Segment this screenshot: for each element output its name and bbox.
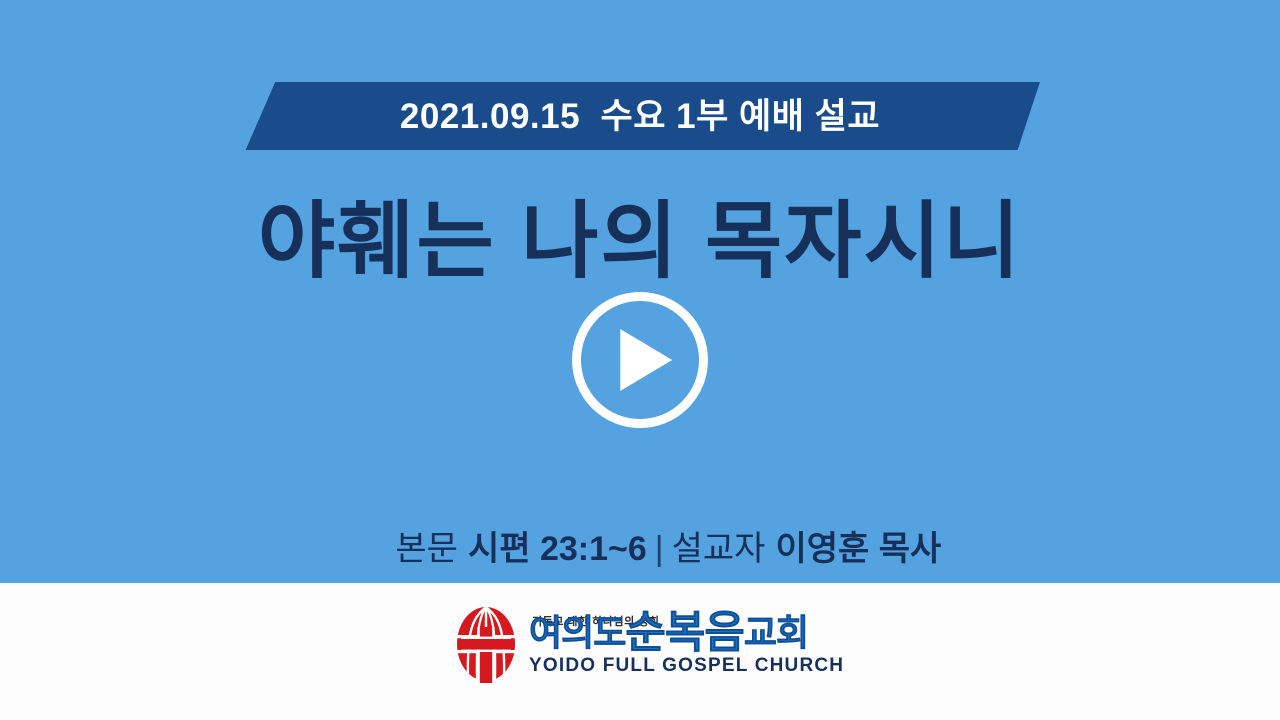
church-name-korean-part3: 교회 [744, 612, 808, 653]
church-name-english: YOIDO FULL GOSPEL CHURCH [529, 656, 844, 675]
church-name-korean: 여의도순복음교회 [529, 613, 844, 653]
meta-separator: | [647, 530, 672, 568]
scripture-label: 본문 [395, 530, 458, 568]
play-icon [620, 329, 672, 391]
play-button[interactable] [572, 292, 708, 428]
date-banner-text: 2021.09.15 수요 1부 예배 설교 [400, 99, 880, 134]
church-logo: 기독교 대한 하나님의 성회 여의도순복음교회 YOIDO FULL GOSPE… [455, 605, 844, 683]
preacher-label: 설교자 [672, 530, 766, 568]
sermon-meta-line: 본문시편 23:1~6|설교자이영훈 목사 [0, 485, 1280, 583]
footer-bar: 기독교 대한 하나님의 성회 여의도순복음교회 YOIDO FULL GOSPE… [0, 583, 1280, 720]
preacher-value: 이영훈 목사 [775, 530, 941, 568]
video-thumbnail[interactable]: 2021.09.15 수요 1부 예배 설교 야훼는 나의 목자시니 본문시편 … [0, 0, 1280, 720]
church-globe-cross-emblem [455, 605, 517, 683]
date-banner: 2021.09.15 수요 1부 예배 설교 [240, 82, 1040, 150]
scripture-value: 시편 23:1~6 [468, 530, 647, 568]
church-logo-text: 기독교 대한 하나님의 성회 여의도순복음교회 YOIDO FULL GOSPE… [529, 613, 844, 674]
poster-background: 2021.09.15 수요 1부 예배 설교 야훼는 나의 목자시니 본문시편 … [0, 0, 1280, 583]
sermon-title: 야훼는 나의 목자시니 [0, 196, 1280, 287]
church-name-korean-part2: 순복음 [625, 608, 743, 657]
church-name-korean-part1: 여의도 [529, 612, 625, 653]
